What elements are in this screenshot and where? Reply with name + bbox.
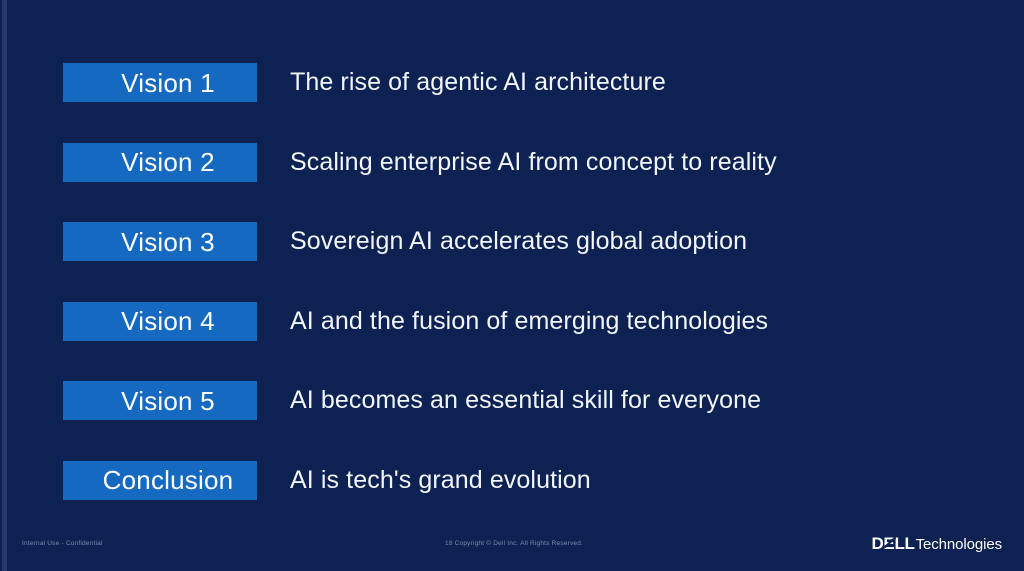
agenda-row-text: The rise of agentic AI architecture	[290, 63, 666, 102]
agenda-badge-vision-4[interactable]: Vision 4	[63, 302, 257, 341]
agenda-badge-vision-3[interactable]: Vision 3	[63, 222, 257, 261]
agenda-row-text: AI becomes an essential skill for everyo…	[290, 381, 761, 420]
agenda-row: Vision 4 AI and the fusion of emerging t…	[63, 302, 963, 382]
agenda-badge-vision-5[interactable]: Vision 5	[63, 381, 257, 420]
dell-technologies-suffix: Technologies	[916, 536, 1002, 553]
agenda-row: Vision 1 The rise of agentic AI architec…	[63, 63, 963, 143]
agenda-badge-conclusion[interactable]: Conclusion	[63, 461, 257, 500]
left-edge-accent-strip	[2, 0, 7, 571]
confidentiality-notice: Internal Use - Confidential	[22, 540, 103, 547]
dell-wordmark: DELL	[871, 534, 914, 554]
copyright-notice: 18 Copyright © Dell Inc. All Rights Rese…	[445, 540, 583, 547]
agenda-badge-label: Conclusion	[103, 467, 234, 493]
agenda-badge-label: Vision 5	[121, 388, 215, 414]
agenda-badge-label: Vision 4	[121, 308, 215, 334]
agenda-list: Vision 1 The rise of agentic AI architec…	[63, 63, 963, 540]
agenda-badge-label: Vision 3	[121, 229, 215, 255]
agenda-row: Vision 5 AI becomes an essential skill f…	[63, 381, 963, 461]
agenda-row: Vision 2 Scaling enterprise AI from conc…	[63, 143, 963, 223]
agenda-row-text: AI and the fusion of emerging technologi…	[290, 302, 768, 341]
agenda-row-text: Scaling enterprise AI from concept to re…	[290, 143, 777, 182]
agenda-row-text: Sovereign AI accelerates global adoption	[290, 222, 747, 261]
agenda-badge-label: Vision 1	[121, 70, 215, 96]
agenda-row: Vision 3 Sovereign AI accelerates global…	[63, 222, 963, 302]
agenda-badge-vision-1[interactable]: Vision 1	[63, 63, 257, 102]
dell-technologies-logo: DELL Technologies	[871, 534, 1002, 554]
slide-footer: Internal Use - Confidential 18 Copyright…	[0, 529, 1024, 571]
agenda-badge-vision-2[interactable]: Vision 2	[63, 143, 257, 182]
agenda-row-text: AI is tech's grand evolution	[290, 461, 591, 500]
slide-canvas: Vision 1 The rise of agentic AI architec…	[0, 0, 1024, 571]
agenda-badge-label: Vision 2	[121, 149, 215, 175]
